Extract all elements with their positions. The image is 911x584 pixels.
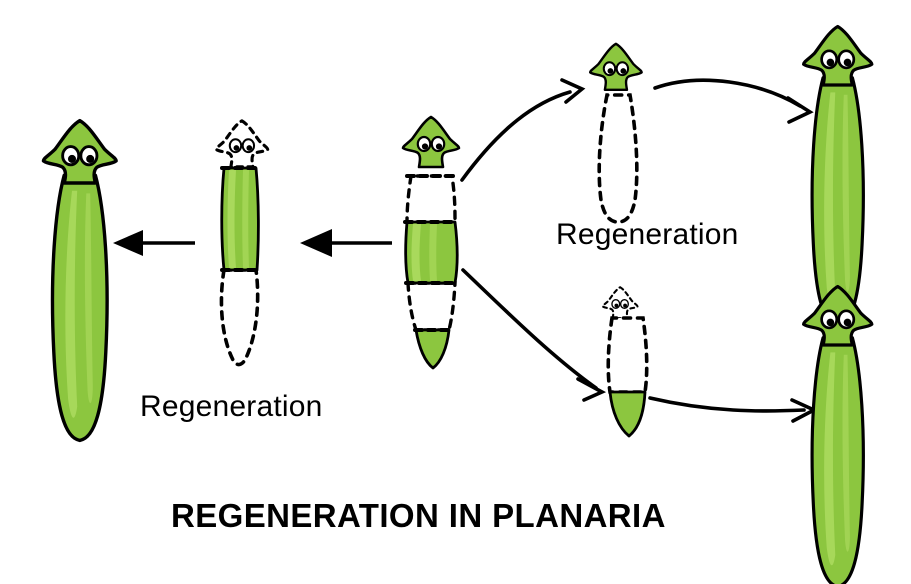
dashed-body-outline [599, 95, 637, 222]
regeneration-diagram-canvas: Regeneration Regeneration REGENERATION I… [0, 0, 911, 584]
arrow-head-fragment-to-regenerated [655, 80, 810, 122]
specimen-fully-regenerated-planaria-top-right [804, 26, 872, 326]
cut-gap-posterior [408, 283, 455, 330]
arrow-parent-to-head-fragment [462, 80, 582, 180]
dashed-body-outline [608, 318, 646, 392]
label-regeneration-left: Regeneration [140, 390, 323, 424]
specimen-fully-regenerated-planaria-left [43, 121, 116, 441]
specimen-head-fragment-regenerating [590, 44, 642, 222]
specimen-fully-regenerated-planaria-bottom-right [804, 286, 872, 584]
arrow-parent-to-middle [300, 229, 392, 257]
dashed-tail-outline [221, 270, 257, 365]
arrow-tail-fragment-to-regenerated [650, 398, 814, 421]
arrow-parent-to-tail-fragment [463, 270, 602, 400]
page-title: REGENERATION IN PLANARIA [171, 497, 666, 535]
cut-gap-anterior [407, 176, 455, 222]
specimen-tail-fragment-regenerating [603, 287, 647, 436]
specimen-parent-planaria-cut-in-three [403, 117, 459, 368]
arrow-middle-to-regenerated [113, 230, 195, 256]
label-regeneration-right: Regeneration [556, 218, 739, 252]
specimen-middle-fragment-regenerating [216, 121, 268, 365]
